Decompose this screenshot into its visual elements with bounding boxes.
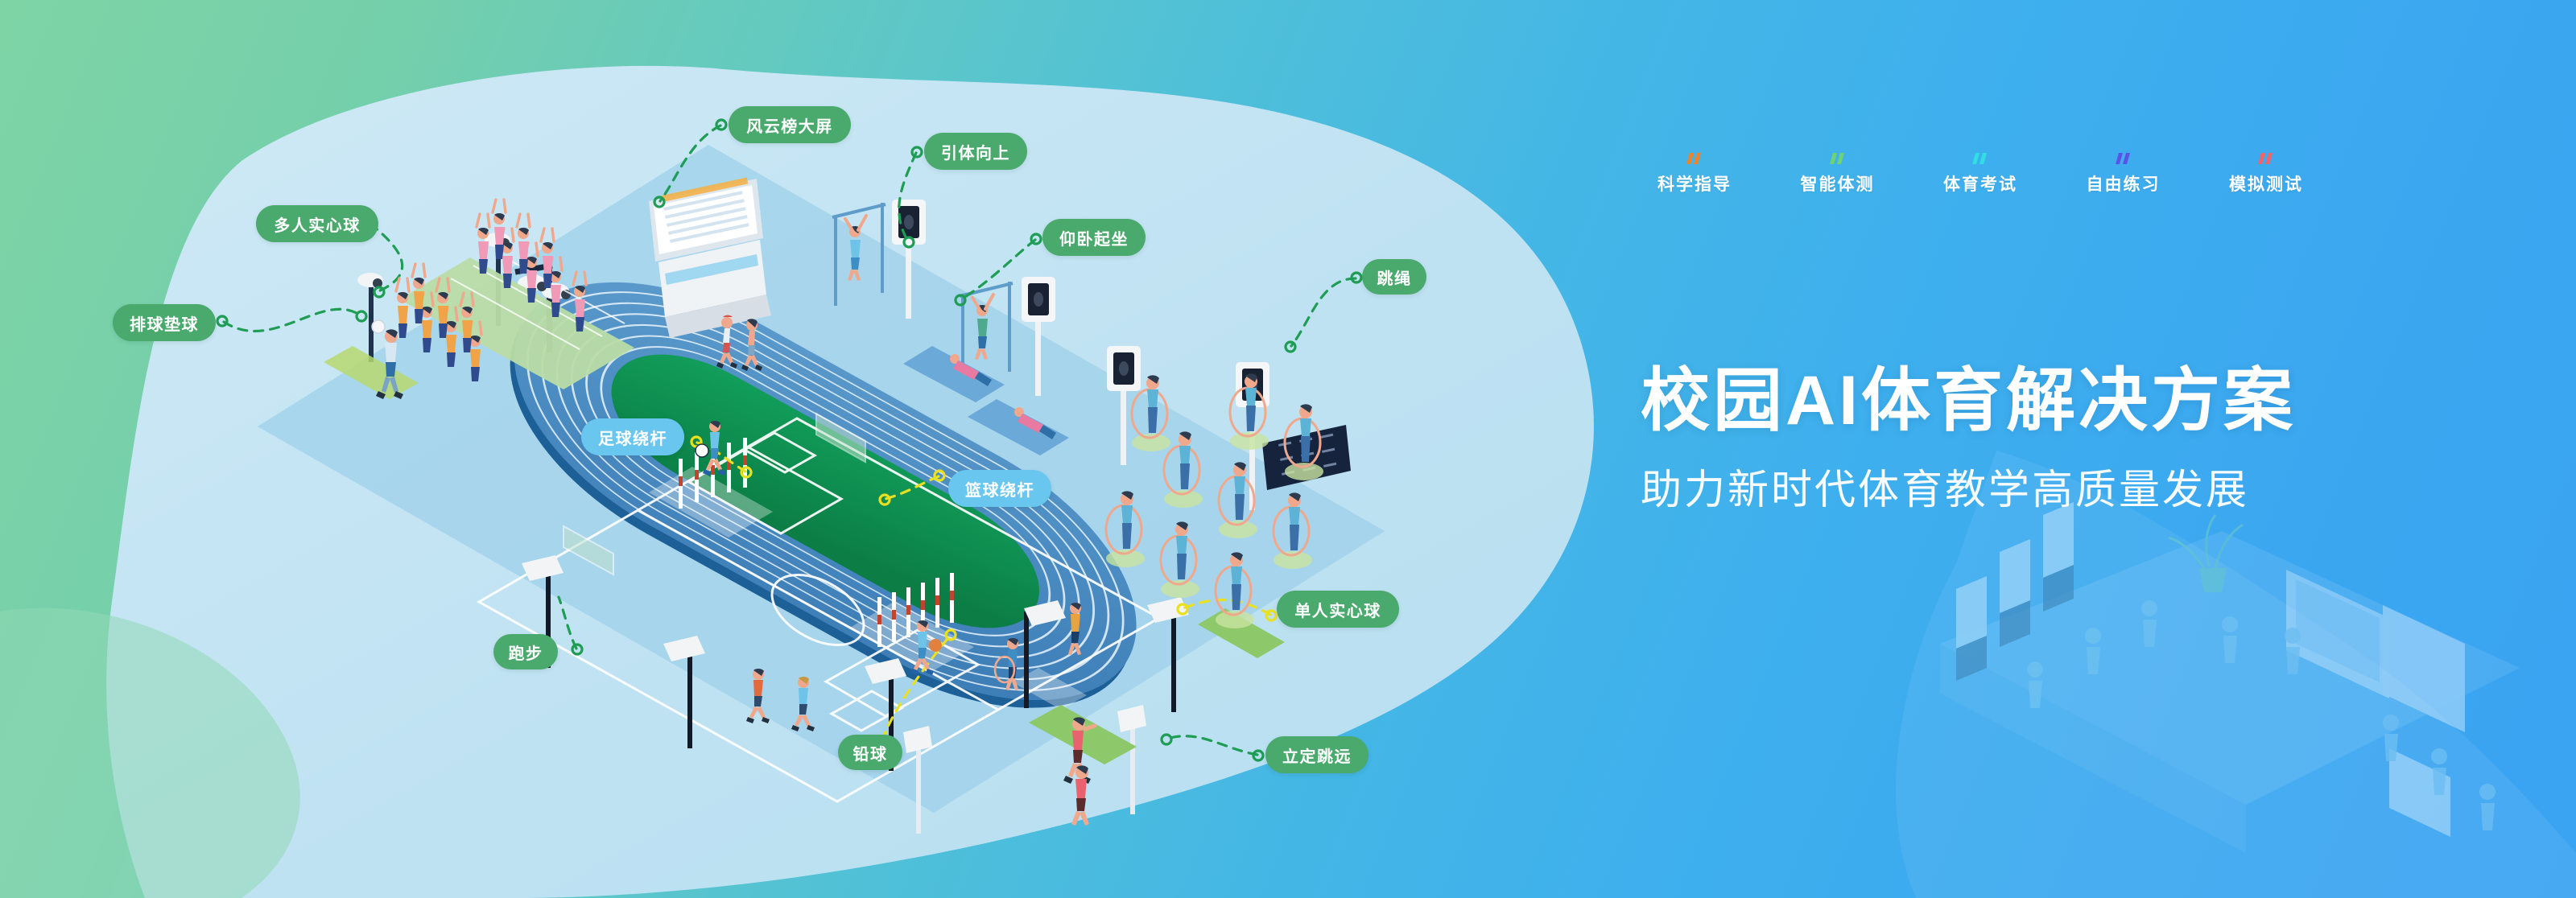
callout-pill-11[interactable]: 铅球 [838,735,902,770]
headline-block: 校园AI体育解决方案 助力新时代体育教学高质量发展 [1641,364,2365,516]
feature-tag-row: 科学指导智能体测体育考试自由练习模拟测试 [1634,153,2326,209]
feature-tag-5[interactable]: 模拟测试 [2206,153,2326,196]
callout-pill-label: 足球绕杆 [598,426,667,449]
callout-pill-8[interactable]: 篮球绕杆 [948,470,1051,507]
callout-pill-label: 风云榜大屏 [746,113,833,137]
double-slash-mark [2116,153,2132,164]
feature-tag-label: 智能体测 [1801,171,1875,196]
callout-pill-6[interactable]: 跳绳 [1362,259,1426,295]
callout-pill-7[interactable]: 足球绕杆 [581,418,684,455]
callout-pill-5[interactable]: 仰卧起坐 [1042,219,1146,256]
callout-pill-9[interactable]: 单人实心球 [1277,591,1399,628]
callout-pill-4[interactable]: 引体向上 [924,133,1027,170]
callout-pill-1[interactable]: 排球垫球 [113,304,216,341]
callout-pill-label: 排球垫球 [130,311,199,335]
feature-tag-1[interactable]: 科学指导 [1634,153,1755,196]
callout-pill-3[interactable]: 风云榜大屏 [729,106,851,143]
callout-pill-label: 跑步 [509,641,543,664]
double-slash-mark [1830,153,1846,164]
feature-tag-4[interactable]: 自由练习 [2063,153,2184,196]
callout-pill-label: 篮球绕杆 [965,477,1034,500]
feature-tag-label: 科学指导 [1657,171,1732,196]
callout-pill-label: 立定跳远 [1282,744,1352,767]
double-slash-mark [1686,153,1703,164]
hero-banner: 排球垫球多人实心球风云榜大屏引体向上仰卧起坐跳绳足球绕杆篮球绕杆单人实心球跑步铅… [0,0,2576,898]
feature-tag-3[interactable]: 体育考试 [1920,153,2041,196]
callout-pill-label: 铅球 [853,741,888,764]
callout-pill-12[interactable]: 立定跳远 [1265,736,1368,773]
callout-pill-label: 引体向上 [941,140,1010,163]
callout-pill-label: 单人实心球 [1294,598,1381,621]
double-slash-mark [2258,153,2274,164]
callout-pill-10[interactable]: 跑步 [493,634,558,669]
feature-tag-label: 自由练习 [2087,171,2161,196]
feature-tag-2[interactable]: 智能体测 [1777,153,1898,196]
page-title: 校园AI体育解决方案 [1641,364,2365,439]
page-subtitle: 助力新时代体育教学高质量发展 [1641,456,2365,516]
double-slash-mark [1972,153,1988,164]
callout-pill-label: 仰卧起坐 [1059,226,1129,249]
callout-pill-label: 跳绳 [1377,266,1412,289]
feature-tag-label: 体育考试 [1943,171,2017,196]
callout-pill-label: 多人实心球 [274,212,361,236]
callout-pill-2[interactable]: 多人实心球 [256,205,378,242]
feature-tag-label: 模拟测试 [2229,171,2303,196]
